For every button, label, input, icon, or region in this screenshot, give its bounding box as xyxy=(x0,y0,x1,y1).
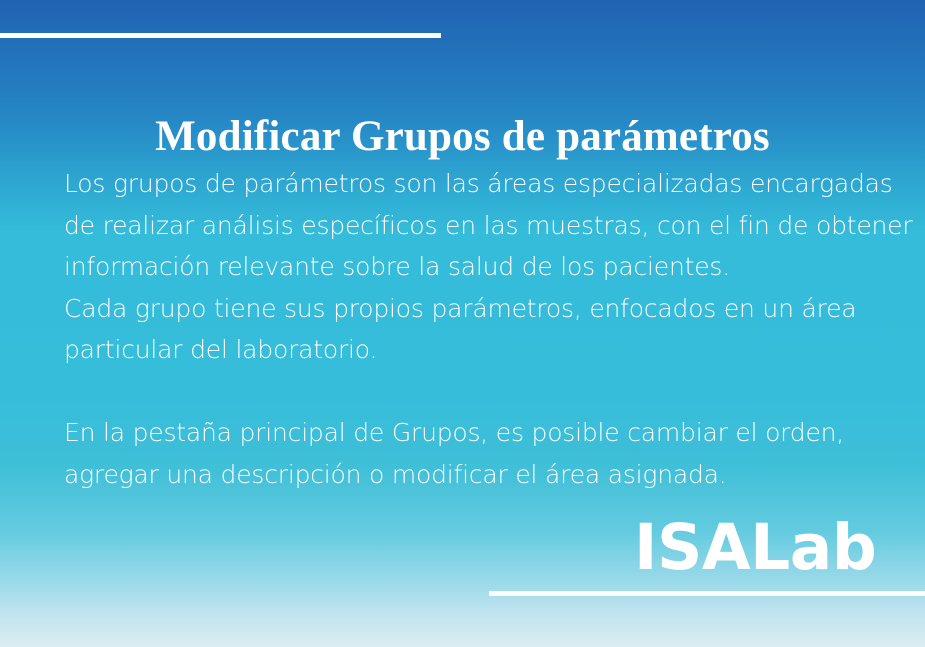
paragraph-2: En la pestaña principal de Grupos, es po… xyxy=(64,412,864,495)
bottom-accent-rule xyxy=(489,591,925,596)
paragraph-line: de realizar análisis específicos en las … xyxy=(64,205,864,247)
page-title: Modificar Grupos de parámetros xyxy=(0,111,925,163)
paragraph-line: agregar una descripción o modificar el á… xyxy=(64,454,864,496)
paragraph-line: información relevante sobre la salud de … xyxy=(64,246,864,288)
paragraph-line: En la pestaña principal de Grupos, es po… xyxy=(64,412,864,454)
paragraph-1: Los grupos de parámetros son las áreas e… xyxy=(64,163,864,371)
paragraph-line: particular del laboratorio. xyxy=(64,329,864,371)
paragraph-line: Los grupos de parámetros son las áreas e… xyxy=(64,163,864,205)
isalab-logo: ISALab xyxy=(634,512,876,584)
paragraph-spacer xyxy=(64,371,864,413)
body-copy: Los grupos de parámetros son las áreas e… xyxy=(64,163,864,495)
paragraph-line: Cada grupo tiene sus propios parámetros,… xyxy=(64,288,864,330)
top-accent-rule xyxy=(0,33,441,38)
slide-canvas: Modificar Grupos de parámetros Los grupo… xyxy=(0,0,925,647)
